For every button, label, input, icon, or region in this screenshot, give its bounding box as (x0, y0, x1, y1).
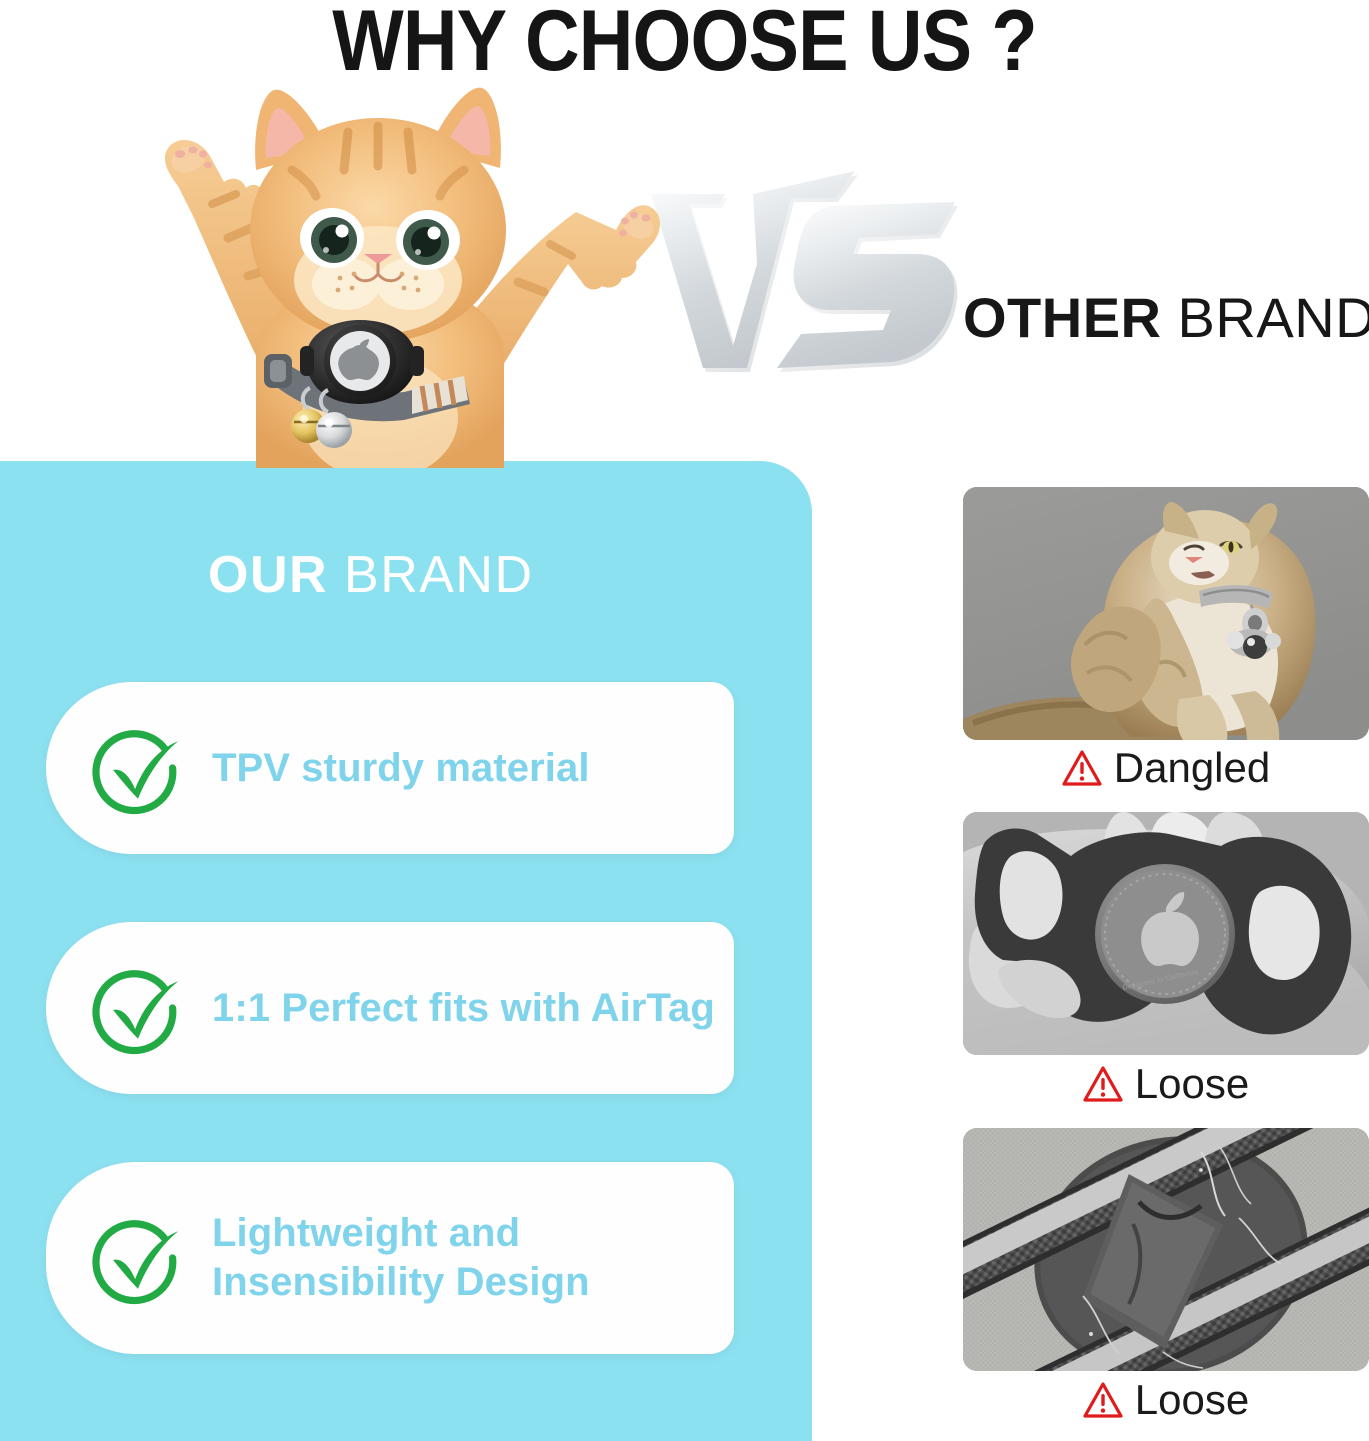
our-brand-bold-word: OUR (208, 546, 328, 604)
feature-text-line-1: Lightweight and (212, 1209, 590, 1258)
competitor-caption: Loose (963, 1376, 1369, 1424)
collar-strap-through-holder-photo (963, 1128, 1369, 1371)
feature-card[interactable]: TPV sturdy material (46, 682, 734, 854)
infographic-canvas: WHY CHOOSE US ? (0, 0, 1369, 1441)
airtag-holder-in-hand-photo: Designed in California (963, 812, 1369, 1055)
competitor-caption: Dangled (963, 744, 1369, 792)
warning-triangle-icon (1083, 1065, 1123, 1103)
check-circle-icon (90, 960, 186, 1056)
other-brand-label: OTHER BRAND (963, 285, 1369, 350)
page-title: WHY CHOOSE US ? (82, 0, 1287, 86)
our-brand-label: OUR BRAND (208, 545, 534, 605)
feature-text: TPV sturdy material (212, 744, 590, 793)
warning-triangle-icon (1083, 1381, 1123, 1419)
warning-triangle-icon (1062, 749, 1102, 787)
check-circle-icon (90, 1210, 186, 1306)
competitor-caption-text: Dangled (1114, 744, 1270, 792)
feature-text: Lightweight and Insensibility Design (212, 1209, 590, 1307)
check-circle-icon (90, 720, 186, 816)
our-brand-regular-word: BRAND (328, 546, 533, 604)
competitor-caption: Loose (963, 1060, 1369, 1108)
competitor-caption-text: Loose (1135, 1060, 1249, 1108)
feature-text-line-1: TPV sturdy material (212, 746, 590, 790)
feature-text-line-1: 1:1 Perfect fits with AirTag (212, 986, 715, 1030)
other-brand-bold-word: OTHER (963, 286, 1162, 349)
feature-text: 1:1 Perfect fits with AirTag (212, 984, 715, 1033)
competitor-caption-text: Loose (1135, 1376, 1249, 1424)
feature-text-line-2: Insensibility Design (212, 1258, 590, 1307)
kitten-with-airtag-collar-photo (60, 58, 700, 468)
feature-card[interactable]: Lightweight and Insensibility Design (46, 1162, 734, 1354)
cat-scratching-collar-photo (963, 487, 1369, 740)
other-brand-regular-word: BRAND (1162, 286, 1369, 349)
feature-card[interactable]: 1:1 Perfect fits with AirTag (46, 922, 734, 1094)
